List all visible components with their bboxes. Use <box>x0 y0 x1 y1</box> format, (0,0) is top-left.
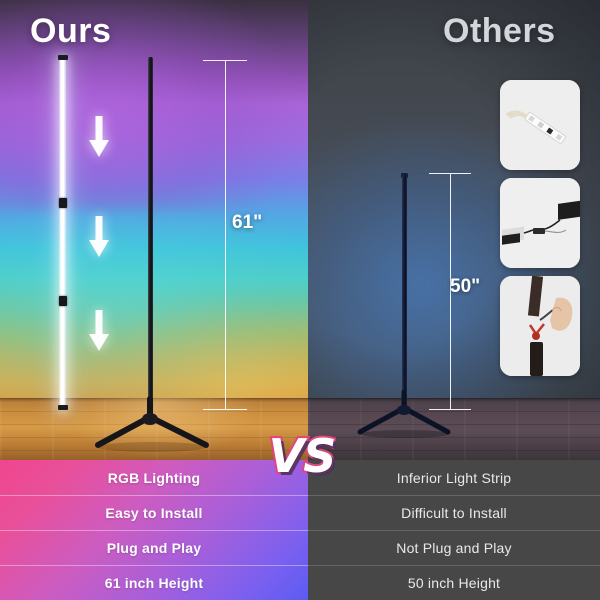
down-arrow-icon <box>86 212 112 260</box>
hand-wiring-photo <box>500 276 580 376</box>
down-arrow-icon <box>86 112 112 160</box>
connector-cables-photo <box>500 178 580 268</box>
measure-tick-bottom-left <box>203 409 247 410</box>
cell-ours-feature: Plug and Play <box>107 540 201 556</box>
hero-scene: 61" 50" <box>0 0 600 460</box>
page-title-ours: Ours <box>30 12 111 51</box>
down-arrow-icon <box>86 306 112 354</box>
cell-others-feature: Inferior Light Strip <box>397 470 512 486</box>
cell-ours-feature: RGB Lighting <box>108 470 201 486</box>
cell-ours-feature: Easy to Install <box>105 505 202 521</box>
table-row: 50 inch Height <box>308 565 600 600</box>
strip-connector-node <box>59 198 67 208</box>
vs-badge: VS <box>262 424 342 492</box>
ours-lamp-tripod-base <box>88 395 216 453</box>
measurement-label-ours: 61" <box>232 212 262 234</box>
table-row: Plug and Play <box>0 530 308 565</box>
strip-bottom-cap-icon <box>58 405 68 410</box>
cell-others-feature: Difficult to Install <box>401 505 507 521</box>
rgb-light-strip <box>59 58 66 410</box>
table-row: Easy to Install <box>0 495 308 530</box>
strip-connector-node <box>59 296 67 306</box>
measure-line-left <box>225 60 226 410</box>
table-row: 61 inch Height <box>0 565 308 600</box>
ours-lamp-pole <box>148 57 153 409</box>
product-comparison-image: 61" 50" <box>0 0 600 600</box>
table-row: Not Plug and Play <box>308 530 600 565</box>
measure-tick-bottom-right <box>429 409 471 410</box>
led-strip-peeling-photo <box>500 80 580 170</box>
page-title-others: Others <box>443 12 556 51</box>
others-lamp-pole <box>402 175 407 410</box>
cell-others-feature: 50 inch Height <box>408 575 500 591</box>
cell-others-feature: Not Plug and Play <box>396 540 511 556</box>
cell-ours-feature: 61 inch Height <box>105 575 203 591</box>
measurement-label-others: 50" <box>450 276 480 298</box>
others-lamp-tripod-base <box>352 390 456 438</box>
vs-badge-label: VS <box>262 424 342 488</box>
table-row: Difficult to Install <box>308 495 600 530</box>
strip-top-cap-icon <box>58 55 68 60</box>
table-row: Inferior Light Strip <box>308 460 600 495</box>
